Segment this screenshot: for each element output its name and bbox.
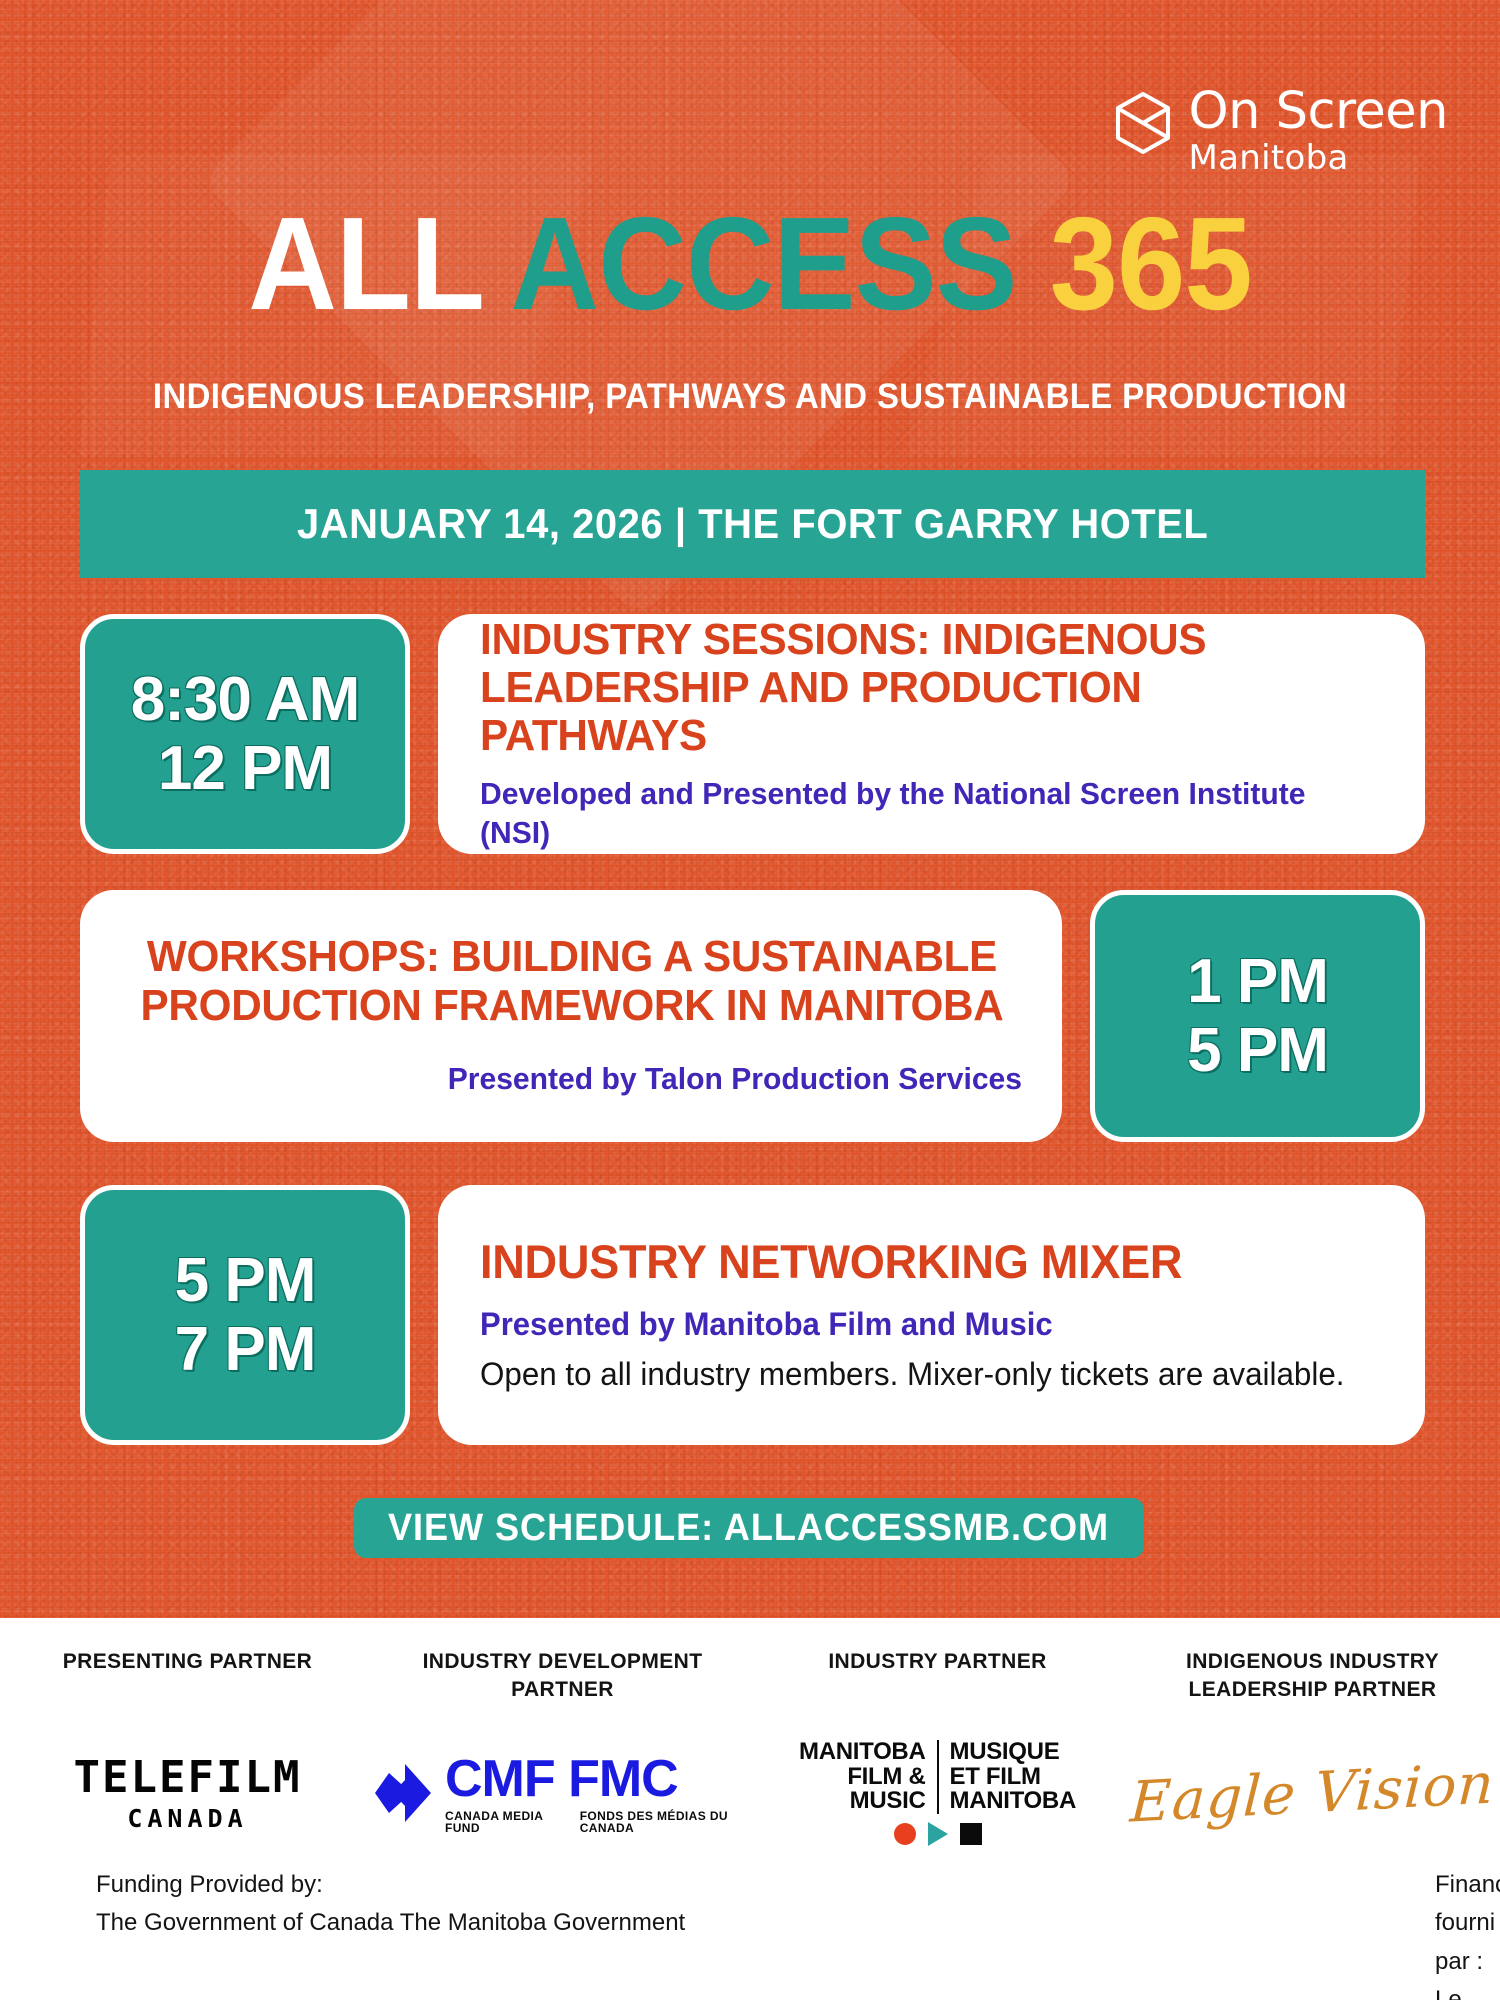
square-icon — [960, 1823, 982, 1845]
cmf-sub-fr: FONDS DES MÉDIAS DU CANADA — [580, 1810, 750, 1834]
funding-statement: Funding Provided by: The Government of C… — [0, 1866, 1500, 2000]
session-card-3: INDUSTRY NETWORKING MIXER Presented by M… — [438, 1185, 1425, 1445]
mfm-english-block: MANITOBA FILM & MUSIC — [799, 1740, 936, 1813]
session-presenter-2: Presented by Talon Production Services — [149, 1060, 1022, 1099]
partner-heading-text-0: PRESENTING PARTNER — [63, 1648, 313, 1676]
cmf-sub-texts: CANADA MEDIA FUND FONDS DES MÉDIAS DU CA… — [445, 1810, 750, 1834]
circle-icon — [894, 1823, 916, 1845]
partner-heading-indigenous-industry-leadership: INDIGENOUS INDUSTRY LEADERSHIP PARTNER — [1125, 1648, 1500, 1705]
partner-heading-industry: INDUSTRY PARTNER — [750, 1648, 1125, 1705]
page-title: ALL ACCESS 365 — [53, 198, 1448, 330]
partner-logos: TELEFILM CANADA CMF FMC CANADA MEDIA FUN… — [0, 1738, 1500, 1848]
time-box-3: 5 PM 7 PM — [80, 1185, 410, 1445]
funding-fr-line-2: Le gouvernement du Canada Le gouvernemen… — [1435, 1981, 1500, 2000]
session-heading-2: WORKSHOPS: BUILDING A SUSTAINABLE PRODUC… — [140, 933, 1004, 1030]
cmf-arrow-icon — [375, 1764, 431, 1822]
date-location-text: JANUARY 14, 2026 | THE FORT GARRY HOTEL — [297, 500, 1208, 548]
title-part-access: ACCESS — [510, 190, 1049, 337]
funding-en-line-2: The Government of Canada The Manitoba Go… — [96, 1904, 750, 1942]
logo-wordmark: On Screen Manitoba — [1188, 86, 1448, 175]
hexagon-box-icon — [1114, 92, 1172, 154]
time-end-2: 5 PM — [1187, 1016, 1328, 1085]
date-location-banner: JANUARY 14, 2026 | THE FORT GARRY HOTEL — [80, 470, 1425, 578]
eagle-vision-logo: Eagle Vision — [1129, 1751, 1497, 1835]
time-box-2: 1 PM 5 PM — [1090, 890, 1425, 1142]
mfm-en-line-3: MUSIC — [799, 1789, 925, 1813]
play-triangle-icon — [928, 1822, 948, 1846]
schedule-row-industry-sessions: 8:30 AM 12 PM INDUSTRY SESSIONS: INDIGEN… — [80, 614, 1425, 854]
session-heading-1: INDUSTRY SESSIONS: INDIGENOUS LEADERSHIP… — [480, 616, 1349, 761]
mfm-fr-line-2: ET FILM — [950, 1765, 1076, 1789]
manitoba-film-music-logo: MANITOBA FILM & MUSIC MUSIQUE ET FILM MA… — [799, 1740, 1076, 1845]
on-screen-manitoba-logo: On Screen Manitoba — [1114, 86, 1448, 175]
cmf-sub-en: CANADA MEDIA FUND — [445, 1810, 558, 1834]
funding-french: Financement fourni par : Le gouvernement… — [750, 1866, 1500, 2000]
partner-heading-industry-development: INDUSTRY DEVELOPMENT PARTNER — [375, 1648, 750, 1705]
mfm-en-line-2: FILM & — [799, 1765, 925, 1789]
mfm-fr-line-3: MANITOBA — [950, 1789, 1076, 1813]
time-start-3: 5 PM — [175, 1246, 316, 1315]
logo-slot-eagle-vision: Eagle Vision — [1125, 1738, 1500, 1848]
partner-heading-text-2: INDUSTRY PARTNER — [828, 1648, 1046, 1676]
cmf-logo: CMF FMC CANADA MEDIA FUND FONDS DES MÉDI… — [375, 1753, 750, 1834]
time-end-1: 12 PM — [158, 734, 332, 803]
schedule-row-workshops: WORKSHOPS: BUILDING A SUSTAINABLE PRODUC… — [80, 890, 1425, 1142]
time-start-2: 1 PM — [1187, 947, 1328, 1016]
funding-english: Funding Provided by: The Government of C… — [0, 1866, 750, 2000]
title-part-all: ALL — [248, 190, 510, 337]
partner-headings: PRESENTING PARTNER INDUSTRY DEVELOPMENT … — [0, 1648, 1500, 1705]
poster: On Screen Manitoba ALL ACCESS 365 INDIGE… — [0, 0, 1500, 2000]
mfm-french-block: MUSIQUE ET FILM MANITOBA — [939, 1740, 1076, 1813]
cmf-wordmark: CMF FMC CANADA MEDIA FUND FONDS DES MÉDI… — [445, 1753, 750, 1834]
logo-slot-telefilm: TELEFILM CANADA — [0, 1738, 375, 1848]
logo-slot-cmf: CMF FMC CANADA MEDIA FUND FONDS DES MÉDI… — [375, 1738, 750, 1848]
partner-heading-presenting: PRESENTING PARTNER — [0, 1648, 375, 1705]
footer: PRESENTING PARTNER INDUSTRY DEVELOPMENT … — [0, 1618, 1500, 2000]
telefilm-line-2: CANADA — [127, 1806, 247, 1831]
time-end-3: 7 PM — [175, 1315, 316, 1384]
title-part-365: 365 — [1050, 190, 1252, 337]
session-presenter-1: Developed and Presented by the National … — [480, 775, 1358, 853]
telefilm-line-1: TELEFILM — [74, 1756, 302, 1800]
session-card-1: INDUSTRY SESSIONS: INDIGENOUS LEADERSHIP… — [438, 614, 1425, 854]
mfm-en-line-1: MANITOBA — [799, 1740, 925, 1764]
logo-line-1: On Screen — [1188, 86, 1448, 137]
view-schedule-label: VIEW SCHEDULE: ALLACCESSMB.COM — [388, 1507, 1109, 1550]
logo-line-2: Manitoba — [1188, 141, 1448, 175]
funding-en-line-1: Funding Provided by: — [96, 1866, 750, 1904]
logo-slot-manitoba-film-music: MANITOBA FILM & MUSIC MUSIQUE ET FILM MA… — [750, 1738, 1125, 1848]
cmf-main-text: CMF FMC — [445, 1753, 750, 1805]
mfm-text-rows: MANITOBA FILM & MUSIC MUSIQUE ET FILM MA… — [799, 1740, 1076, 1813]
session-heading-3: INDUSTRY NETWORKING MIXER — [480, 1236, 1349, 1288]
partner-heading-text-1: INDUSTRY DEVELOPMENT PARTNER — [413, 1648, 713, 1705]
schedule-row-networking-mixer: 5 PM 7 PM INDUSTRY NETWORKING MIXER Pres… — [80, 1185, 1425, 1445]
view-schedule-button[interactable]: VIEW SCHEDULE: ALLACCESSMB.COM — [354, 1498, 1144, 1558]
telefilm-logo: TELEFILM CANADA — [74, 1756, 302, 1831]
session-card-2: WORKSHOPS: BUILDING A SUSTAINABLE PRODUC… — [80, 890, 1062, 1142]
time-box-1: 8:30 AM 12 PM — [80, 614, 410, 854]
mfm-fr-line-1: MUSIQUE — [950, 1740, 1076, 1764]
session-presenter-3: Presented by Manitoba Film and Music — [480, 1304, 1358, 1344]
mfm-marks — [894, 1822, 982, 1846]
page-subtitle: INDIGENOUS LEADERSHIP, PATHWAYS AND SUST… — [45, 377, 1455, 417]
funding-fr-line-1: Financement fourni par : — [1435, 1866, 1500, 1981]
time-start-1: 8:30 AM — [131, 665, 359, 734]
partner-heading-text-3: INDIGENOUS INDUSTRY LEADERSHIP PARTNER — [1163, 1648, 1463, 1705]
session-note-3: Open to all industry members. Mixer-only… — [480, 1354, 1367, 1394]
